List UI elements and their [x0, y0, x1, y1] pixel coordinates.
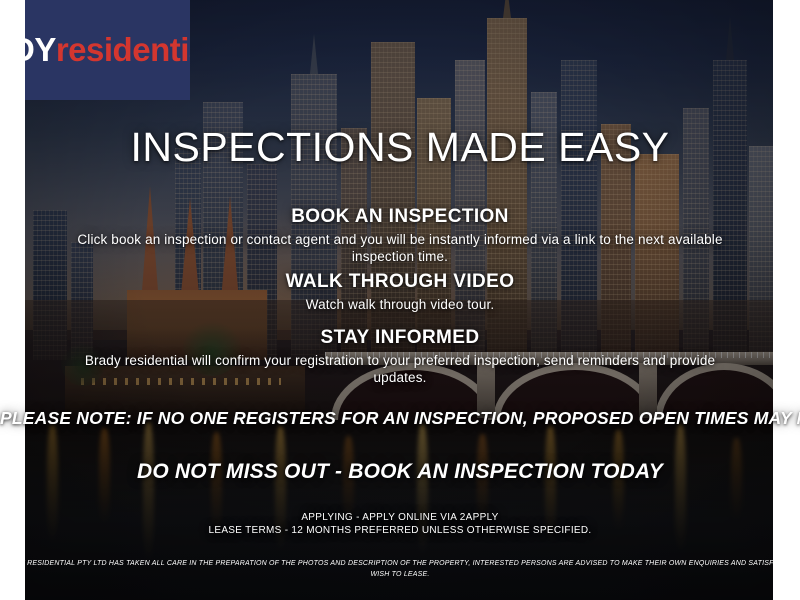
please-note-text: PLEASE NOTE: IF NO ONE REGISTERS FOR AN …	[0, 408, 800, 429]
page-title: INSPECTIONS MADE EASY	[0, 124, 800, 171]
section-heading: STAY INFORMED	[60, 327, 740, 349]
section-walk-through-video: WALK THROUGH VIDEO Watch walk through vi…	[60, 271, 740, 313]
section-body: Watch walk through video tour.	[60, 296, 740, 313]
fine-print-applying: APPLYING - APPLY ONLINE VIA 2APPLY	[0, 511, 800, 524]
section-heading: WALK THROUGH VIDEO	[60, 271, 740, 293]
fine-print-lease-terms: LEASE TERMS - 12 MONTHS PREFERRED UNLESS…	[0, 524, 800, 537]
call-to-action-text: DO NOT MISS OUT - BOOK AN INSPECTION TOD…	[0, 460, 800, 484]
section-book-an-inspection: BOOK AN INSPECTION Click book an inspect…	[60, 206, 740, 265]
section-body: Click book an inspection or contact agen…	[60, 231, 740, 265]
section-body: Brady residential will confirm your regi…	[60, 352, 740, 386]
disclaimer-line-1: BRADY RESIDENTIAL PTY LTD HAS TAKEN ALL …	[0, 558, 800, 569]
promo-banner: DYresidential INSPECTIONS MADE EASY BOOK…	[0, 0, 800, 600]
legal-disclaimer: BRADY RESIDENTIAL PTY LTD HAS TAKEN ALL …	[0, 558, 800, 580]
fine-print: APPLYING - APPLY ONLINE VIA 2APPLY LEASE…	[0, 511, 800, 537]
banner-content: INSPECTIONS MADE EASY BOOK AN INSPECTION…	[0, 0, 800, 600]
section-stay-informed: STAY INFORMED Brady residential will con…	[60, 327, 740, 386]
section-heading: BOOK AN INSPECTION	[60, 206, 740, 228]
disclaimer-line-2: WISH TO LEASE.	[0, 569, 800, 580]
